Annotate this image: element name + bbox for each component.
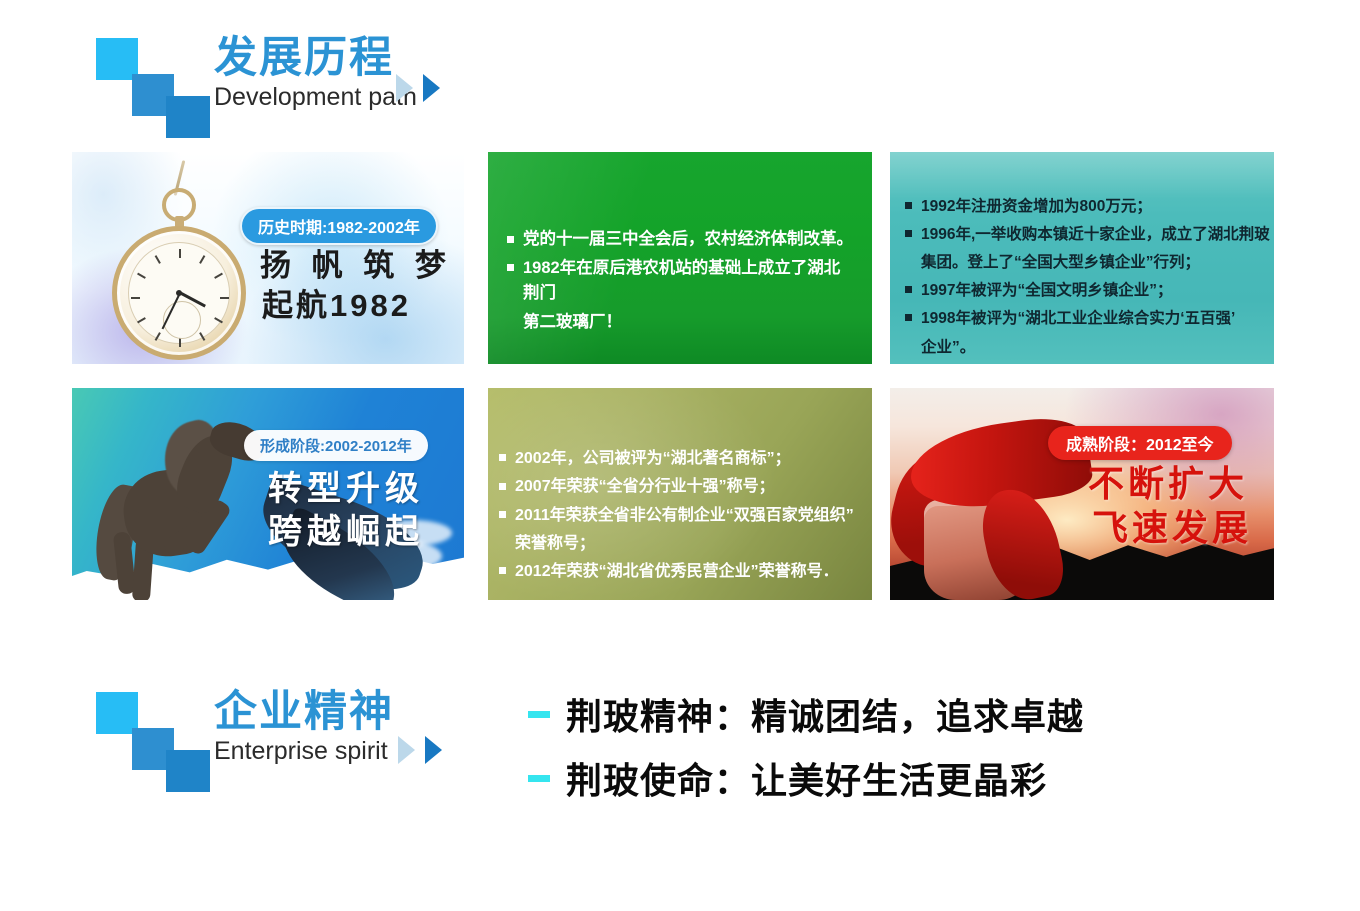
pocket-watch-illustration <box>100 160 260 360</box>
list-item: 荣誉称号； <box>498 531 868 556</box>
spirit-statement-list: 荆玻精神：精诚团结，追求卓越荆玻使命：让美好生活更晶彩 <box>528 688 1084 816</box>
badge-formation-period: 形成阶段:2002-2012年 <box>244 430 428 461</box>
section-arrows-development <box>396 74 440 102</box>
list-item: 2002年，公司被评为“湖北著名商标”； <box>498 446 868 471</box>
badge-history-period: 历史时期:1982-2002年 <box>240 207 438 245</box>
card-headline-line2-watch: 起航1982 <box>262 289 411 324</box>
logo-square-dark <box>166 750 210 792</box>
card-honors-olive[interactable]: 2002年，公司被评为“湖北著名商标”；2007年荣获“全省分行业十强”称号；2… <box>488 388 872 600</box>
list-item: 集团。登上了“全国大型乡镇企业”行列； <box>904 250 1270 275</box>
spirit-statement: 荆玻使命：让美好生活更晶彩 <box>528 752 1084 804</box>
list-item: 2011年荣获全省非公有制企业“双强百家党组织” <box>498 503 868 528</box>
card-maturity-red[interactable]: 成熟阶段：2012至今 不断扩大 飞速发展 <box>890 388 1274 600</box>
badge-maturity-period: 成熟阶段：2012至今 <box>1048 426 1232 460</box>
logo-square-dark <box>166 96 210 138</box>
section-header-spirit: 企业精神 Enterprise spirit <box>96 692 566 788</box>
section-header-development: 发展历程 Development path <box>96 38 566 134</box>
bullet-list-green: 党的十一届三中全会后，农村经济体制改革。1982年在原后港农机站的基础上成立了湖… <box>506 227 856 338</box>
dash-marker-icon <box>528 711 550 718</box>
list-item: 第二玻璃厂！ <box>506 310 856 336</box>
spirit-statement-text: 荆玻精神：精诚团结，追求卓越 <box>566 688 1084 740</box>
list-item: 1992年注册资金增加为800万元； <box>904 194 1270 219</box>
section-title-cn-development: 发展历程 <box>214 36 417 81</box>
card-history-1982[interactable]: 历史时期:1982-2002年 扬 帆 筑 梦 起航1982 <box>72 152 464 364</box>
spirit-statement: 荆玻精神：精诚团结，追求卓越 <box>528 688 1084 740</box>
section-title-block-spirit: 企业精神 Enterprise spirit <box>214 690 394 766</box>
list-item: 党的十一届三中全会后，农村经济体制改革。 <box>506 227 856 253</box>
card-transition-horse[interactable]: 形成阶段:2002-2012年 转型升级 跨越崛起 <box>72 388 464 600</box>
list-item: 1997年被评为“全国文明乡镇企业”； <box>904 278 1270 303</box>
triangle-right-solid-icon <box>423 74 440 102</box>
logo-squares-development <box>96 38 208 126</box>
section-title-en-development: Development path <box>214 83 417 112</box>
triangle-right-pale-icon <box>396 74 413 102</box>
triangle-right-solid-icon <box>425 736 442 764</box>
logo-squares-spirit <box>96 692 208 780</box>
list-item: 1982年在原后港农机站的基础上成立了湖北荆门 <box>506 256 856 307</box>
section-title-cn-spirit: 企业精神 <box>214 690 394 735</box>
card-milestones-teal[interactable]: 1992年注册资金增加为800万元；1996年,一举收购本镇近十家企业，成立了湖… <box>890 152 1274 364</box>
card-headline-line2-horse: 跨越崛起 <box>268 513 424 551</box>
section-arrows-spirit <box>398 736 442 764</box>
list-item: 2007年荣获“全省分行业十强”称号； <box>498 474 868 499</box>
spirit-statement-text: 荆玻使命：让美好生活更晶彩 <box>566 752 1047 804</box>
list-item: 1996年,一举收购本镇近十家企业，成立了湖北荆玻 <box>904 222 1270 247</box>
card-headline-line2-red: 飞速发展 <box>1092 508 1252 548</box>
slide-canvas: 发展历程 Development path <box>0 0 1360 911</box>
list-item: 企业”。 <box>904 335 1270 360</box>
section-title-block-development: 发展历程 Development path <box>214 36 417 112</box>
bullet-list-teal: 1992年注册资金增加为800万元；1996年,一举收购本镇近十家企业，成立了湖… <box>904 194 1270 363</box>
dash-marker-icon <box>528 775 550 782</box>
card-headline-line1-watch: 扬 帆 筑 梦 <box>260 249 452 284</box>
card-headline-line1-horse: 转型升级 <box>268 470 424 508</box>
section-title-en-spirit: Enterprise spirit <box>214 737 394 766</box>
bullet-list-olive: 2002年，公司被评为“湖北著名商标”；2007年荣获“全省分行业十强”称号；2… <box>498 446 868 587</box>
triangle-right-pale-icon <box>398 736 415 764</box>
list-item: 2012年荣获“湖北省优秀民营企业”荣誉称号． <box>498 559 868 584</box>
card-founding-green[interactable]: 党的十一届三中全会后，农村经济体制改革。1982年在原后港农机站的基础上成立了湖… <box>488 152 872 364</box>
list-item: 1998年被评为“湖北工业企业综合实力‘五百强’ <box>904 306 1270 331</box>
card-headline-line1-red: 不断扩大 <box>1088 464 1248 504</box>
